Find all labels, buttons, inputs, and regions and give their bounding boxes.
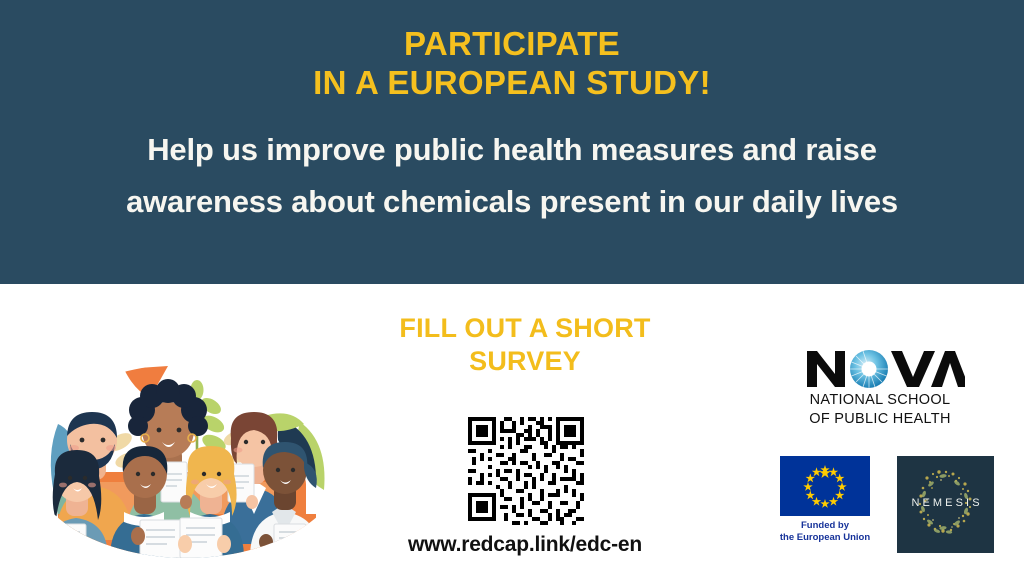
subheadline-line-2: awareness about chemicals present in our…: [17, 176, 1007, 228]
illustration-oval-mask: [28, 364, 346, 558]
qr-code-image: [464, 413, 588, 525]
survey-url[interactable]: www.redcap.link/edc-en: [372, 533, 678, 557]
subheadline-line-1: Help us improve public health measures a…: [17, 124, 1007, 176]
nemesis-wordmark: NEMESIS: [897, 497, 994, 509]
cta-line-2: SURVEY: [372, 345, 678, 378]
subheadline: Help us improve public health measures a…: [17, 124, 1007, 228]
nemesis-logo: NEMESIS: [897, 456, 994, 553]
qr-code[interactable]: [464, 413, 588, 525]
nova-logo: NATIONAL SCHOOL OF PUBLIC HEALTH: [795, 347, 965, 432]
hero-banner: PARTICIPATE IN A EUROPEAN STUDY! Help us…: [0, 0, 1024, 284]
eu-funding-caption: Funded by the European Union: [777, 520, 873, 543]
nova-subtitle-line-1: NATIONAL SCHOOL: [795, 391, 965, 410]
nova-wordmark-artwork: [795, 347, 965, 391]
eu-flag-artwork: [780, 456, 870, 516]
eu-caption-line-2: the European Union: [777, 532, 873, 544]
eu-funding-logo: Funded by the European Union: [777, 456, 873, 553]
headline: PARTICIPATE IN A EUROPEAN STUDY!: [313, 24, 711, 102]
illustration-artwork: [28, 364, 346, 558]
eu-flag-icon: [780, 456, 870, 516]
headline-line-1: PARTICIPATE: [404, 25, 620, 62]
nova-subtitle-line-2: OF PUBLIC HEALTH: [795, 410, 965, 429]
nova-wordmark: [795, 347, 965, 391]
survey-call-to-action: FILL OUT A SHORT SURVEY: [372, 312, 678, 378]
people-illustration: [28, 364, 346, 558]
nova-subtitle: NATIONAL SCHOOL OF PUBLIC HEALTH: [795, 391, 965, 429]
headline-line-2: IN A EUROPEAN STUDY!: [313, 63, 711, 102]
cta-line-1: FILL OUT A SHORT: [372, 312, 678, 345]
eu-caption-line-1: Funded by: [777, 520, 873, 532]
